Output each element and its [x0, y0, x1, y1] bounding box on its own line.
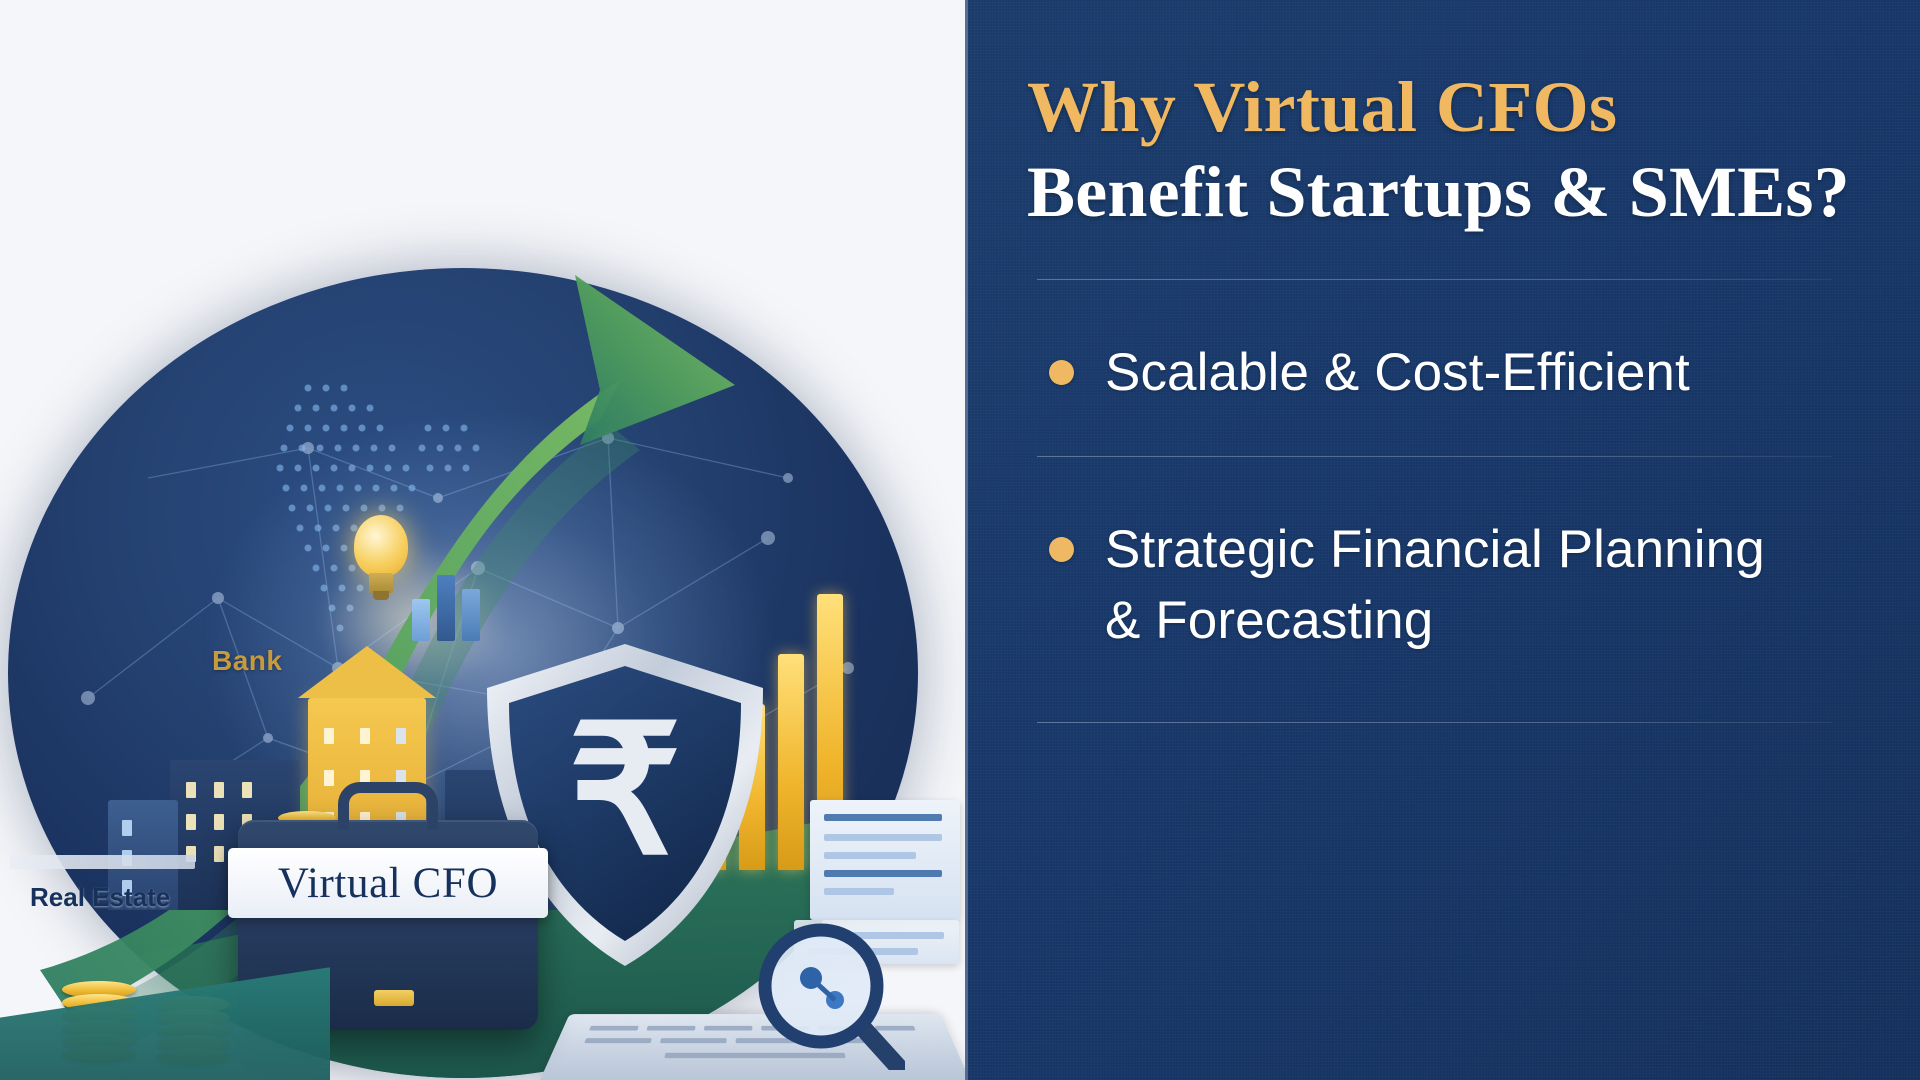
panel-divider — [965, 0, 968, 1080]
real-estate-label: Real Estate — [30, 882, 170, 913]
slide-root: Bank Real Estate — [0, 0, 1920, 1080]
list-item: Scalable & Cost-Efficient — [1049, 338, 1890, 408]
real-estate-strip — [10, 855, 195, 869]
bullet-text-2: Strategic Financial Planning & Forecasti… — [1105, 515, 1805, 656]
illustration-stage: Bank Real Estate — [0, 0, 965, 1080]
svg-text:₹: ₹ — [568, 693, 681, 891]
briefcase-label: Virtual CFO — [278, 859, 498, 908]
content-panel: Why Virtual CFOs Benefit Startups & SMEs… — [965, 0, 1920, 1080]
divider-middle — [1037, 456, 1832, 457]
page-title: Why Virtual CFOs Benefit Startups & SMEs… — [1027, 70, 1890, 235]
bullet-dot-icon — [1049, 360, 1074, 385]
bank-label: Bank — [212, 645, 282, 677]
magnifier-icon — [755, 920, 905, 1070]
briefcase-label-plate: Virtual CFO — [228, 848, 548, 918]
bullet-list: Scalable & Cost-Efficient Strategic Fina… — [1027, 338, 1890, 723]
divider-bottom — [1037, 722, 1832, 723]
divider-top — [1037, 279, 1832, 280]
title-line-1: Why Virtual CFOs — [1027, 70, 1890, 146]
bullet-dot-icon — [1049, 537, 1074, 562]
bullet-text-1: Scalable & Cost-Efficient — [1105, 338, 1690, 408]
title-line-2: Benefit Startups & SMEs? — [1027, 150, 1890, 235]
illustration-panel: Bank Real Estate — [0, 0, 965, 1080]
list-item: Strategic Financial Planning & Forecasti… — [1049, 515, 1890, 656]
